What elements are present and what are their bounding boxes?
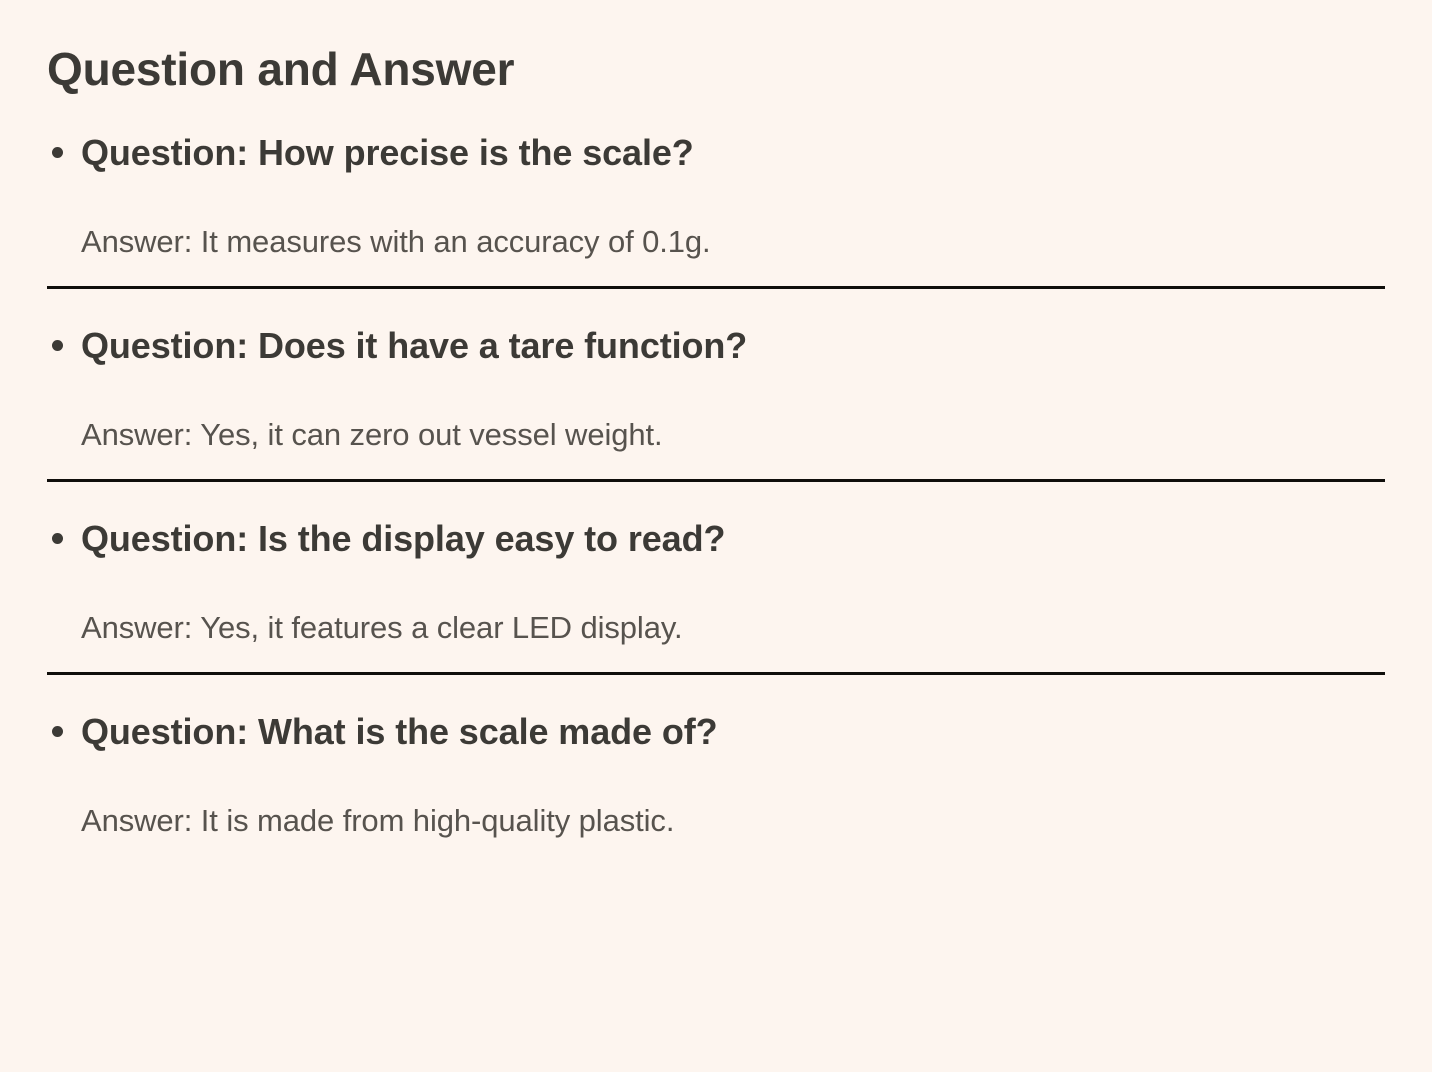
faq-question-row: Question: How precise is the scale? [47,130,1385,175]
faq-list: Question: How precise is the scale? Answ… [47,96,1385,866]
page-title: Question and Answer [47,0,1385,96]
faq-item: Question: How precise is the scale? Answ… [47,96,1385,289]
faq-question: Question: How precise is the scale? [81,130,1385,175]
faq-question-row: Question: Does it have a tare function? [47,323,1385,368]
bullet-dot-icon [52,147,63,158]
faq-page: Question and Answer Question: How precis… [0,0,1432,1072]
faq-question: Question: What is the scale made of? [81,709,1385,754]
faq-answer: Answer: Yes, it can zero out vessel weig… [47,415,1385,455]
faq-question: Question: Is the display easy to read? [81,516,1385,561]
faq-answer: Answer: It is made from high-quality pla… [47,801,1385,841]
faq-item: Question: Does it have a tare function? … [47,289,1385,482]
faq-answer: Answer: Yes, it features a clear LED dis… [47,608,1385,648]
bullet-dot-icon [52,726,63,737]
faq-question-row: Question: Is the display easy to read? [47,516,1385,561]
faq-question: Question: Does it have a tare function? [81,323,1385,368]
faq-question-row: Question: What is the scale made of? [47,709,1385,754]
faq-item: Question: Is the display easy to read? A… [47,482,1385,675]
faq-answer: Answer: It measures with an accuracy of … [47,222,1385,262]
faq-item: Question: What is the scale made of? Ans… [47,675,1385,865]
bullet-dot-icon [52,533,63,544]
bullet-dot-icon [52,340,63,351]
